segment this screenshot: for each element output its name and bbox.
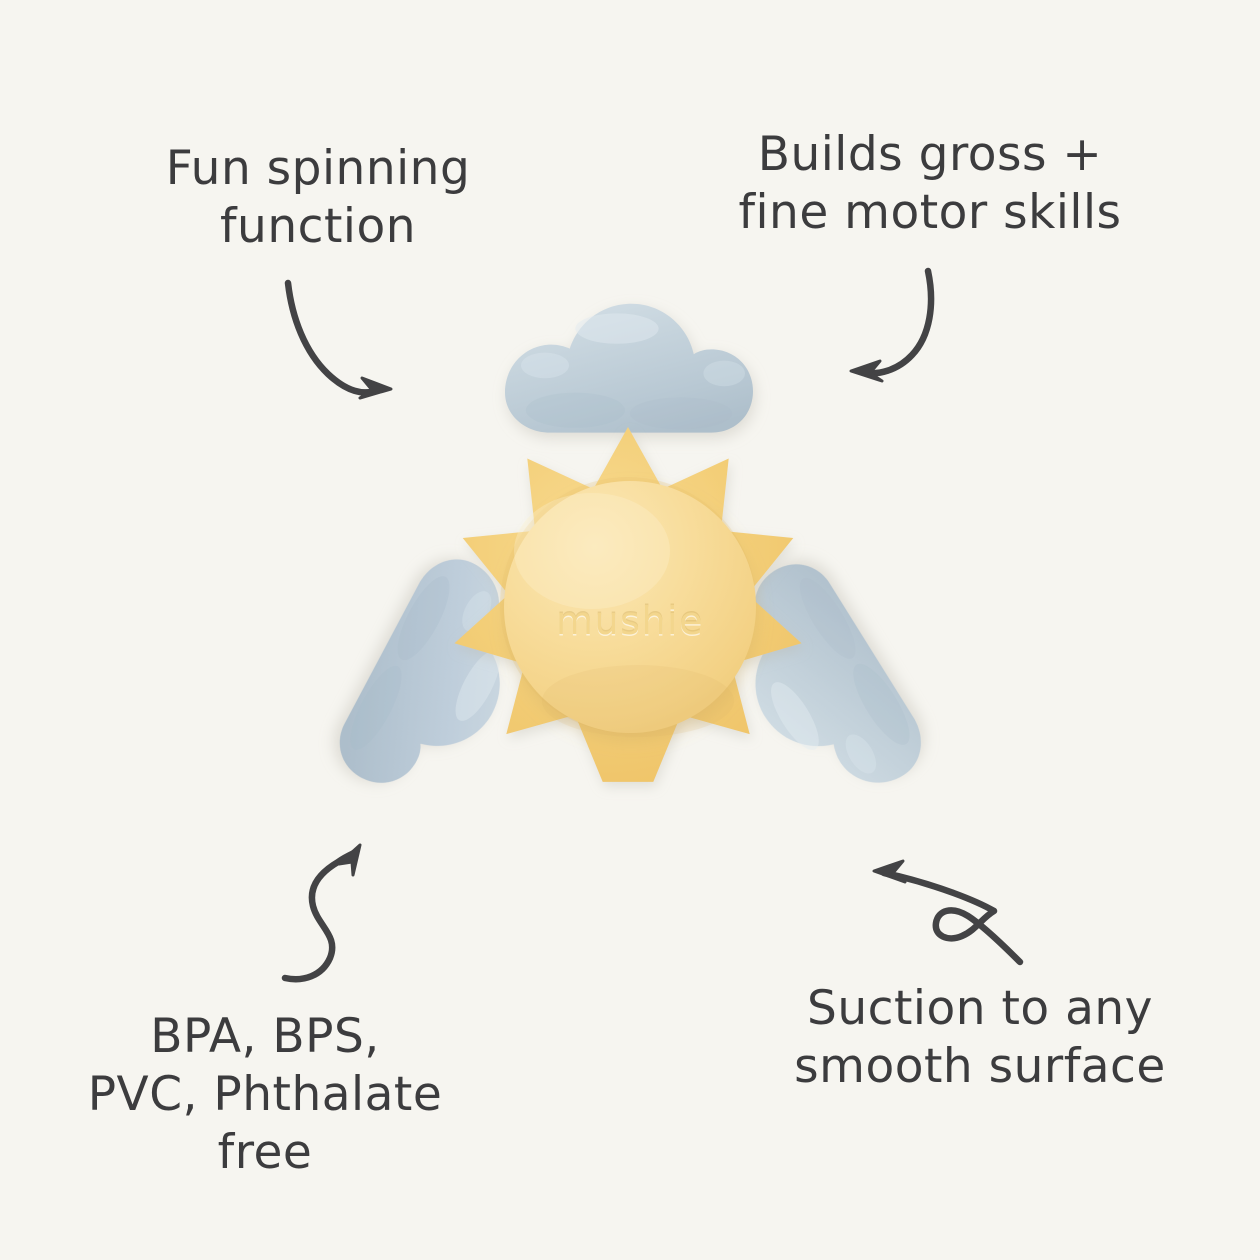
- cloud-top: [505, 304, 753, 433]
- callout-suction-surface: Suction to any smooth surface: [760, 980, 1200, 1096]
- callout-fun-spinning-function: Fun spinning function: [118, 140, 518, 256]
- callout-builds-motor-skills: Builds gross + fine motor skills: [690, 126, 1170, 242]
- spinner-toy[interactable]: mushie: [280, 255, 980, 895]
- sun-spinner: [455, 427, 802, 782]
- callout-bpa-free: BPA, BPS, PVC, Phthalate free: [40, 1008, 490, 1182]
- product-feature-scene: mushie Fun spinning function Builds gros…: [0, 0, 1260, 1260]
- toy-graphic: [280, 255, 980, 895]
